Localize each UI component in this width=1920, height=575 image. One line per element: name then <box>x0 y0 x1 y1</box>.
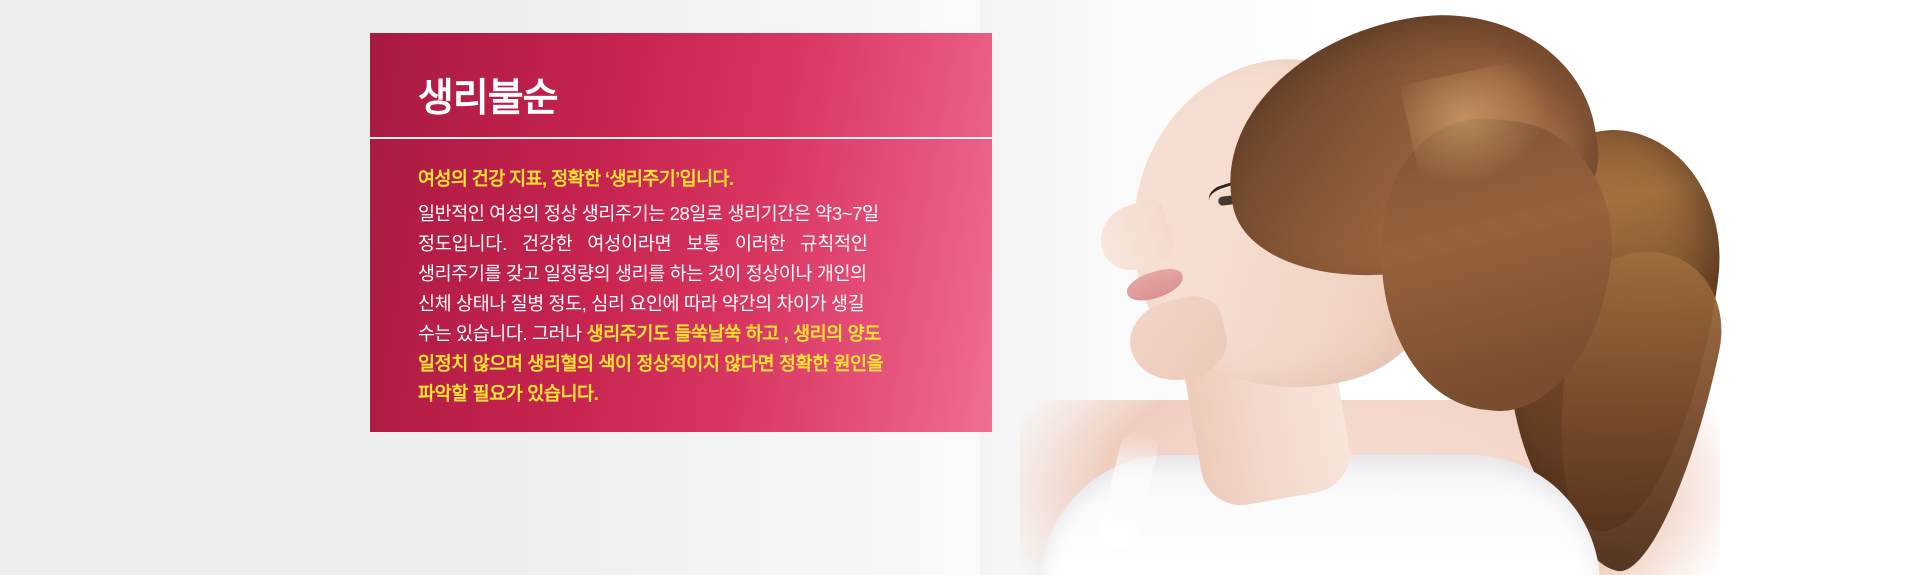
body-line-7-highlight: 파악할 필요가 있습니다. <box>418 379 944 409</box>
page-title: 생리불순 <box>418 78 944 137</box>
info-panel: 생리불순 여성의 건강 지표, 정확한 ‘생리주기’입니다. 일반적인 여성의 … <box>370 33 992 432</box>
body-line-3: 생리주기를 갖고 일정량의 생리를 하는 것이 정상이나 개인의 <box>418 259 944 289</box>
body-paragraph: 일반적인 여성의 정상 생리주기는 28일로 생리기간은 약3~7일 정도입니다… <box>418 199 944 409</box>
body-line-6-highlight: 일정치 않으며 생리혈의 색이 정상적이지 않다면 정확한 원인을 <box>418 349 944 379</box>
title-divider <box>370 137 992 139</box>
body-line-2: 정도입니다. 건강한 여성이라면 보통 이러한 규칙적인 <box>418 229 944 259</box>
panel-body: 여성의 건강 지표, 정확한 ‘생리주기’입니다. 일반적인 여성의 정상 생리… <box>418 139 944 409</box>
body-line-5-plain: 수는 있습니다. 그러나 <box>418 323 587 344</box>
body-line-5-highlight: 생리주기도 들쑥날쑥 하고 , 생리의 양도 <box>587 323 881 344</box>
body-line-5: 수는 있습니다. 그러나 생리주기도 들쑥날쑥 하고 , 생리의 양도 <box>418 319 944 349</box>
body-line-4: 신체 상태나 질병 정도, 심리 요인에 따라 약간의 차이가 생길 <box>418 289 944 319</box>
body-line-1: 일반적인 여성의 정상 생리주기는 28일로 생리기간은 약3~7일 <box>418 199 944 229</box>
model-photo <box>980 0 1920 575</box>
lead-statement: 여성의 건강 지표, 정확한 ‘생리주기’입니다. <box>418 166 944 193</box>
banner-stage: 생리불순 여성의 건강 지표, 정확한 ‘생리주기’입니다. 일반적인 여성의 … <box>0 0 1920 575</box>
